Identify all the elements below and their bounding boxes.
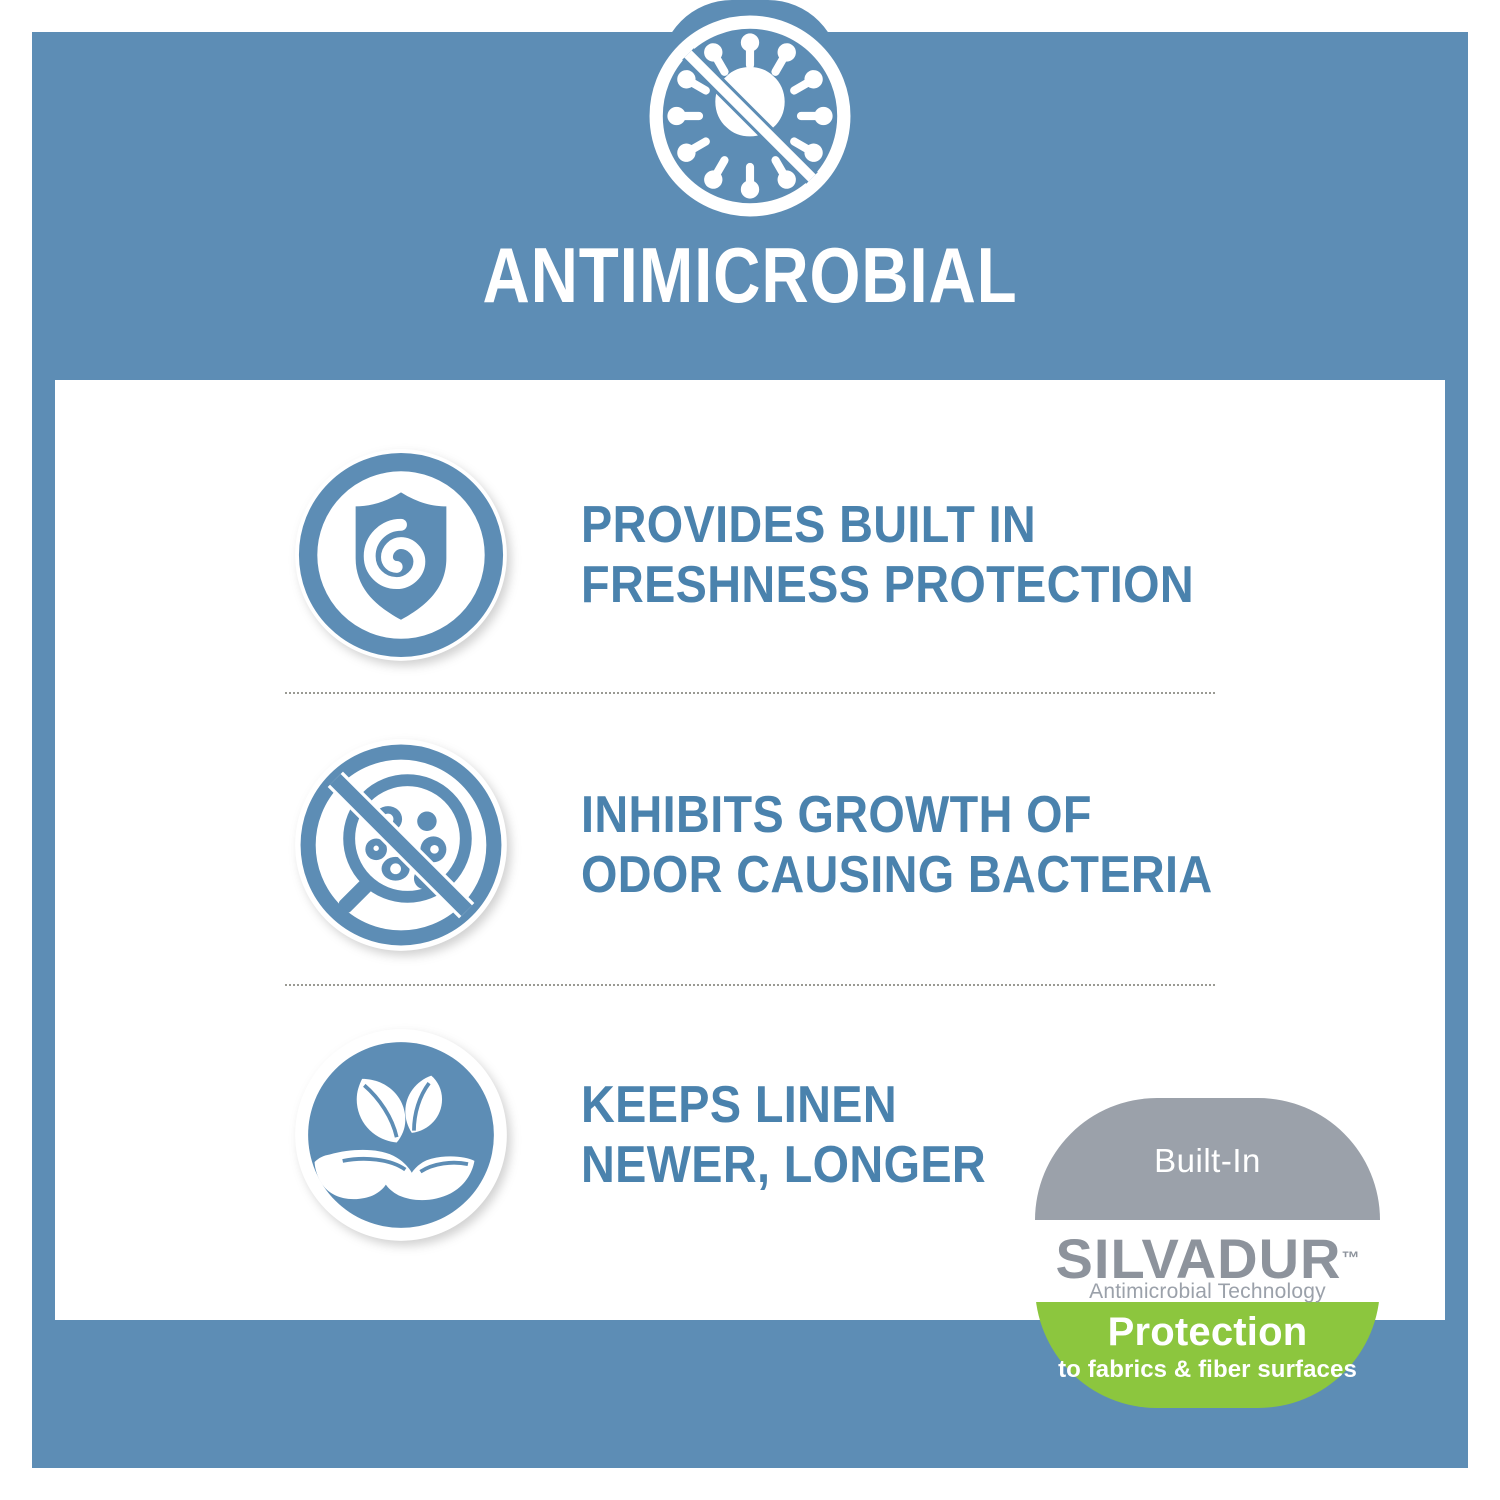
badge-built-in-label: Built-In [1035,1142,1380,1180]
no-germs-icon [648,14,852,218]
page-title: ANTIMICROBIAL [120,236,1380,314]
feature-row: INHIBITS GROWTH OF ODOR CAUSING BACTERIA [55,720,1445,970]
silvadur-tagline: Antimicrobial Technology [1035,1280,1380,1304]
divider [285,984,1215,986]
shield-swirl-icon [293,447,509,663]
trademark-symbol: ™ [1341,1248,1359,1268]
antimicrobial-infographic: ANTIMICROBIAL PROVIDES BUILT IN FRESHNES… [0,0,1500,1500]
feature-line-1: PROVIDES BUILT IN [581,495,1359,555]
leaf-fabric-icon [293,1027,509,1243]
feature-line-2: FRESHNESS PROTECTION [581,555,1359,615]
feature-line-1: INHIBITS GROWTH OF [581,785,1359,845]
frame-left-border [32,380,55,1320]
frame-right-border [1445,380,1468,1320]
feature-text: INHIBITS GROWTH OF ODOR CAUSING BACTERIA [581,785,1359,906]
badge-protection-title: Protection [1035,1310,1380,1355]
divider [285,692,1215,694]
silvadur-badge: Built-In SILVADUR™ Antimicrobial Technol… [1035,1098,1380,1408]
no-bacteria-magnifier-icon [293,737,509,953]
feature-line-2: ODOR CAUSING BACTERIA [581,845,1359,905]
feature-text: PROVIDES BUILT IN FRESHNESS PROTECTION [581,495,1359,616]
badge-protection-subtitle: to fabrics & fiber surfaces [1035,1356,1380,1384]
feature-row: PROVIDES BUILT IN FRESHNESS PROTECTION [55,430,1445,680]
